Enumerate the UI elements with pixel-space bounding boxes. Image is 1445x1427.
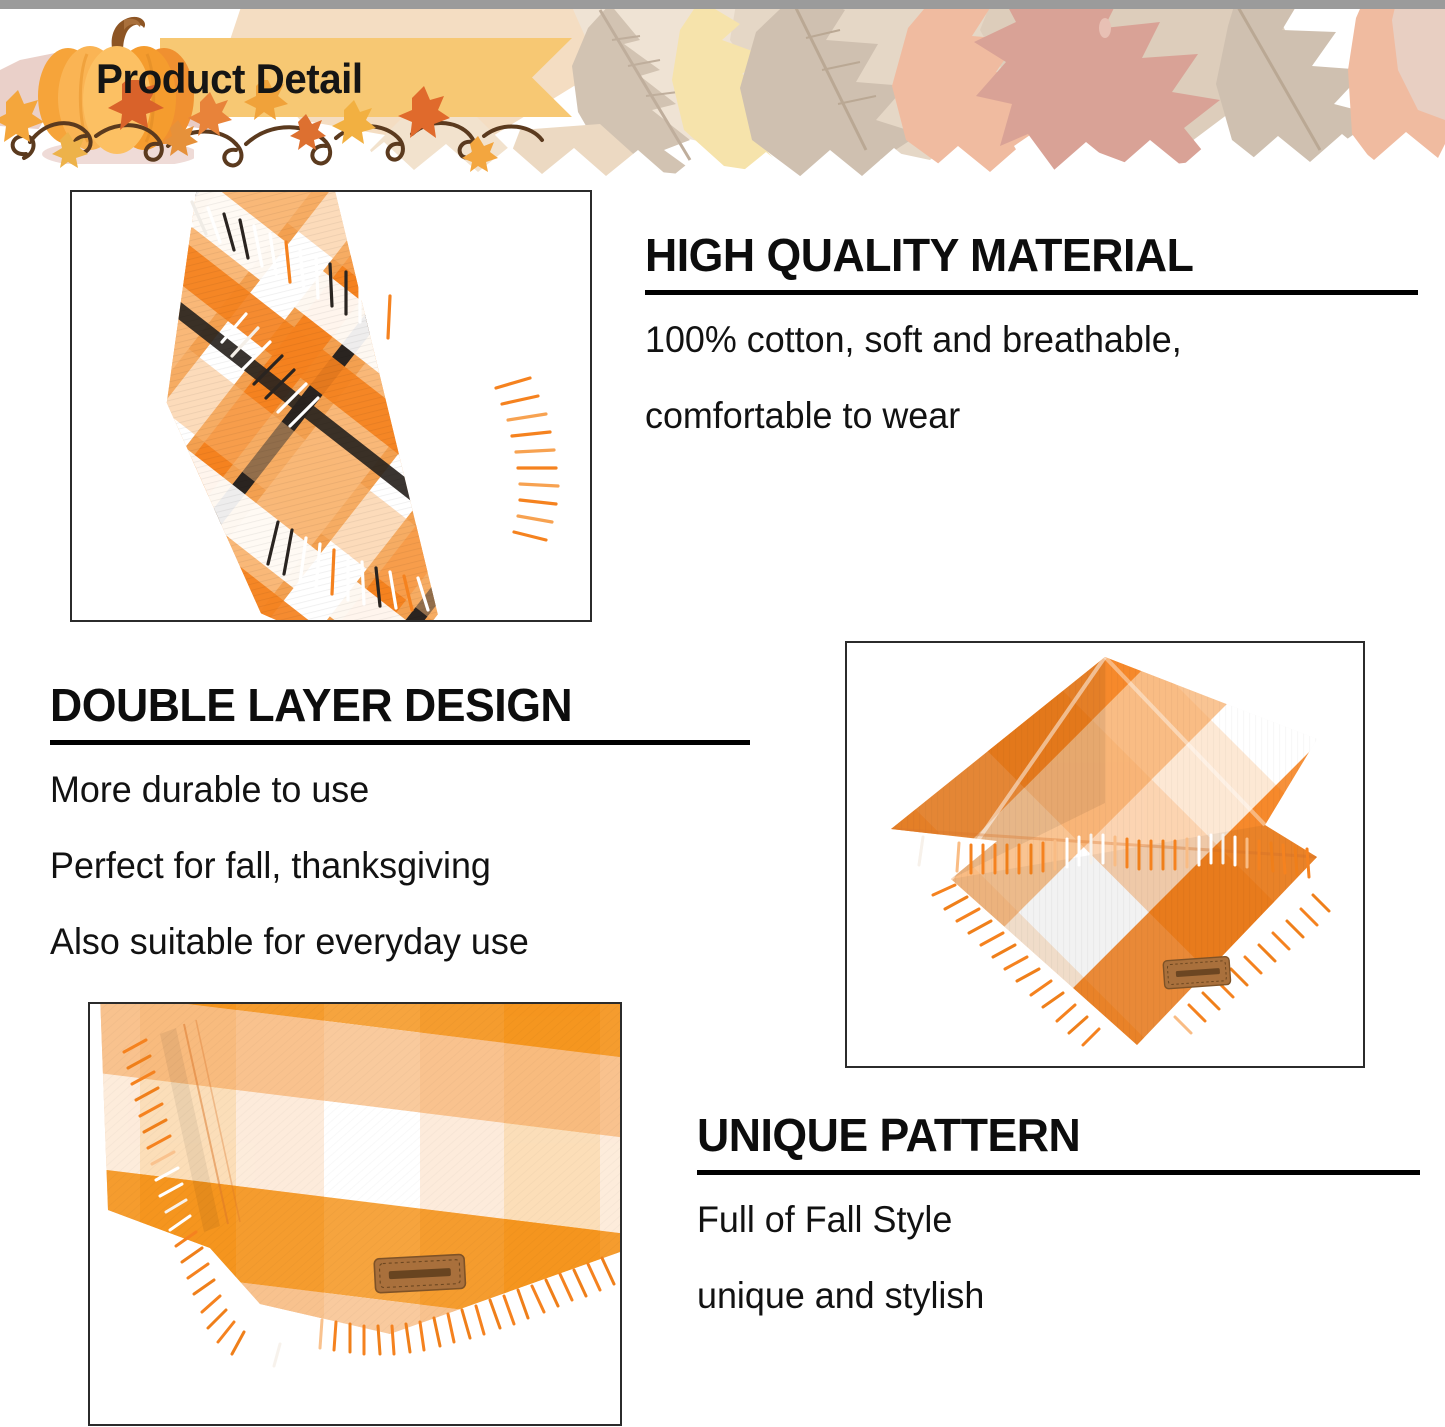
feature-line: 100% cotton, soft and breathable, bbox=[645, 319, 1397, 361]
feature-title-unique: UNIQUE PATTERN bbox=[697, 1108, 1400, 1162]
product-photo-material[interactable] bbox=[70, 190, 592, 622]
feature-double-layer-design: DOUBLE LAYER DESIGN More durable to use … bbox=[50, 678, 755, 963]
product-detail-page: Product Detail bbox=[0, 0, 1445, 1427]
feature-body-double: More durable to use Perfect for fall, th… bbox=[50, 769, 755, 963]
feature-divider-unique bbox=[697, 1170, 1420, 1175]
feature-divider-material bbox=[645, 290, 1418, 295]
product-photo-pattern[interactable] bbox=[845, 641, 1365, 1068]
feature-line: Full of Fall Style bbox=[697, 1199, 1400, 1241]
leather-tag bbox=[374, 1254, 466, 1293]
feature-title-material: HIGH QUALITY MATERIAL bbox=[645, 228, 1397, 282]
feature-line: unique and stylish bbox=[697, 1275, 1400, 1317]
header-banner: Product Detail bbox=[0, 0, 1445, 182]
feature-line: comfortable to wear bbox=[645, 395, 1397, 437]
page-title: Product Detail bbox=[96, 50, 413, 108]
header-top-rule bbox=[0, 0, 1445, 9]
feature-body-material: 100% cotton, soft and breathable, comfor… bbox=[645, 319, 1420, 437]
feature-line: More durable to use bbox=[50, 769, 734, 811]
leather-tag bbox=[1163, 956, 1231, 989]
feature-body-unique: Full of Fall Style unique and stylish bbox=[697, 1199, 1422, 1317]
feature-line: Perfect for fall, thanksgiving bbox=[50, 845, 734, 887]
feature-unique-pattern: UNIQUE PATTERN Full of Fall Style unique… bbox=[697, 1108, 1422, 1317]
feature-high-quality-material: HIGH QUALITY MATERIAL 100% cotton, soft … bbox=[645, 228, 1420, 437]
product-photo-double-layer[interactable] bbox=[88, 1002, 622, 1426]
feature-line: Also suitable for everyday use bbox=[50, 921, 734, 963]
feature-title-double: DOUBLE LAYER DESIGN bbox=[50, 678, 734, 732]
feature-divider-double bbox=[50, 740, 750, 745]
